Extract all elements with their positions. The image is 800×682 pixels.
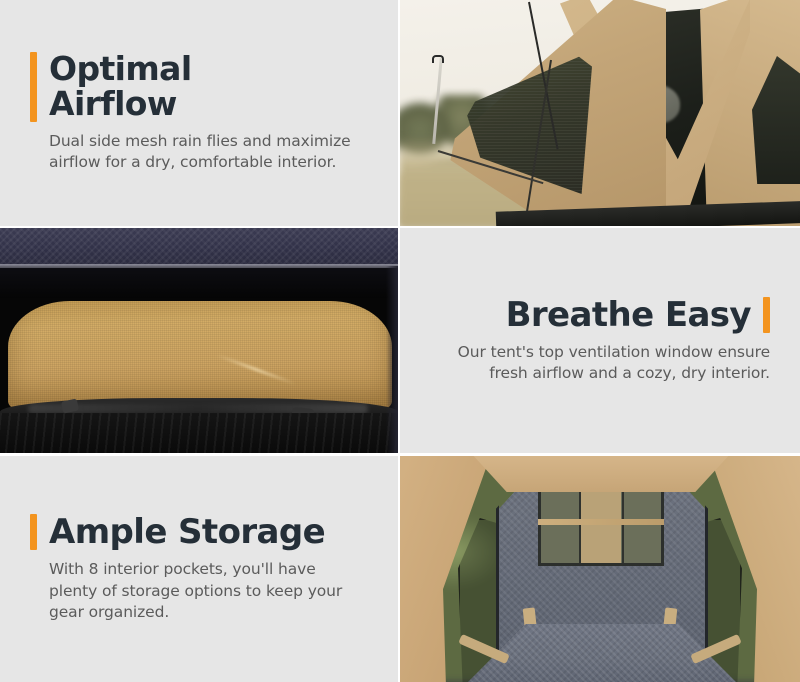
tent-interior-right-edge xyxy=(386,266,398,453)
panel-optimal-airflow: Optimal Airflow Dual side mesh rain flie… xyxy=(0,0,398,226)
heading-row-breathe-easy: Breathe Easy xyxy=(430,297,770,333)
tent-shell-top xyxy=(470,456,732,492)
pocket-divider-4 xyxy=(622,525,624,563)
feature-grid: Optimal Airflow Dual side mesh rain flie… xyxy=(0,0,800,682)
heading-row-ample-storage: Ample Storage xyxy=(30,514,368,550)
tent-roof-shadow xyxy=(0,268,398,298)
panel-body-breathe-easy: Our tent's top ventilation window ensure… xyxy=(430,342,770,385)
tent-pole-clip-icon xyxy=(432,55,444,63)
panel-heading-optimal-airflow: Optimal Airflow xyxy=(49,52,192,122)
heading-row-optimal-airflow: Optimal Airflow xyxy=(30,52,368,122)
panel-ample-storage: Ample Storage With 8 interior pockets, y… xyxy=(0,456,398,682)
panel-breathe-easy: Breathe Easy Our tent's top ventilation … xyxy=(400,228,800,453)
heading-line-2: Airflow xyxy=(49,84,177,123)
pocket-cell-bottom-center xyxy=(581,525,621,563)
tent-interior-floor xyxy=(0,413,398,453)
panel-body-optimal-airflow: Dual side mesh rain flies and maximize a… xyxy=(30,131,368,174)
panel-body-ample-storage: With 8 interior pockets, you'll have ple… xyxy=(30,559,368,623)
photo-interior-storage-pockets xyxy=(400,456,800,682)
photo-exterior-tent-mesh-windows xyxy=(400,0,800,226)
ventilation-window-panel xyxy=(8,301,392,411)
panel-heading-ample-storage: Ample Storage xyxy=(49,514,325,550)
accent-bar-icon xyxy=(30,52,37,122)
accent-bar-icon xyxy=(763,297,770,333)
pocket-divider-3 xyxy=(579,525,581,563)
photo-interior-top-ventilation-window xyxy=(0,228,398,453)
accent-bar-icon xyxy=(30,514,37,550)
heading-line-1: Optimal xyxy=(49,49,192,88)
panel-heading-breathe-easy: Breathe Easy xyxy=(506,297,751,333)
tent-roof-quilted-band xyxy=(0,228,398,266)
